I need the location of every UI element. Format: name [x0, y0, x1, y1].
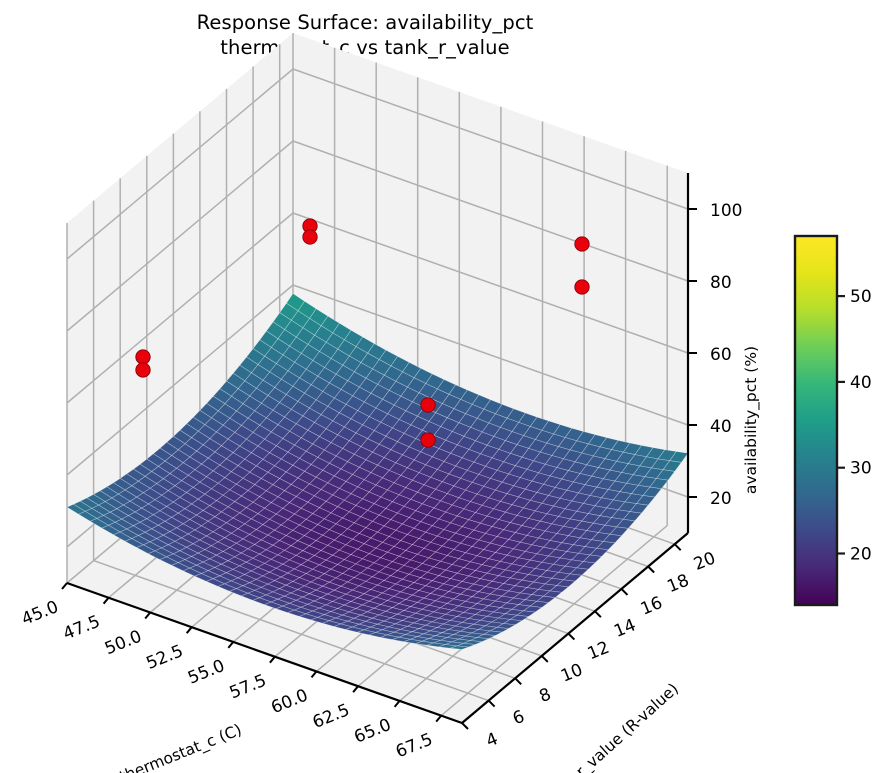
colorbar-gradient: [795, 236, 837, 605]
y-tick-label: 4: [483, 729, 501, 752]
y-tick-label: 8: [537, 684, 555, 707]
colorbar-tick-label: 30: [850, 459, 872, 479]
y-axis-label: tank_r_value (R-value): [541, 680, 682, 773]
y-tick-label: 12: [585, 638, 613, 665]
colorbar-tick-label: 50: [850, 287, 872, 307]
colorbar-tick-label: 40: [850, 373, 872, 393]
y-tick-label: 20: [691, 548, 719, 575]
z-tick-label: 60: [710, 345, 732, 365]
y-tick-label: 14: [611, 615, 639, 642]
x-tick-label: 52.5: [144, 641, 187, 674]
colorbar-label: availability_pct (%): [742, 346, 761, 494]
observed-point: [421, 433, 435, 447]
figure-canvas: Response Surface: availability_pct therm…: [0, 0, 896, 773]
z-tick-label: 80: [710, 273, 732, 293]
x-axis-label: thermostat_c (C): [117, 721, 245, 773]
x-tick-label: 50.0: [102, 627, 145, 660]
z-tick-label: 20: [710, 489, 732, 509]
response-surface-3d-plot: 45.047.550.052.555.057.560.062.565.067.5…: [0, 0, 896, 773]
observed-point: [575, 237, 589, 251]
observed-point: [136, 350, 150, 364]
z-tick-label: 40: [710, 417, 732, 437]
colorbar-ticks: 20304050: [837, 287, 872, 564]
colorbar-tick-label: 20: [850, 545, 872, 565]
x-tick-label: 67.5: [393, 730, 436, 763]
observed-point: [421, 398, 435, 412]
z-tick-label: 100: [710, 201, 742, 221]
observed-point: [575, 280, 589, 294]
y-tick-label: 10: [558, 660, 586, 687]
y-tick-label: 16: [638, 593, 666, 620]
observed-point: [136, 363, 150, 377]
x-tick-label: 55.0: [185, 656, 228, 689]
y-tick-label: 18: [664, 571, 692, 598]
colorbar: [795, 236, 837, 605]
y-tick-label: 6: [510, 707, 528, 730]
x-tick-label: 60.0: [268, 685, 311, 718]
x-tick-label: 62.5: [310, 700, 353, 733]
observed-point: [303, 230, 317, 244]
x-tick-label: 65.0: [351, 715, 394, 748]
x-tick-label: 57.5: [227, 671, 270, 704]
x-tick-label: 45.0: [19, 597, 62, 630]
x-tick-label: 47.5: [60, 612, 103, 645]
